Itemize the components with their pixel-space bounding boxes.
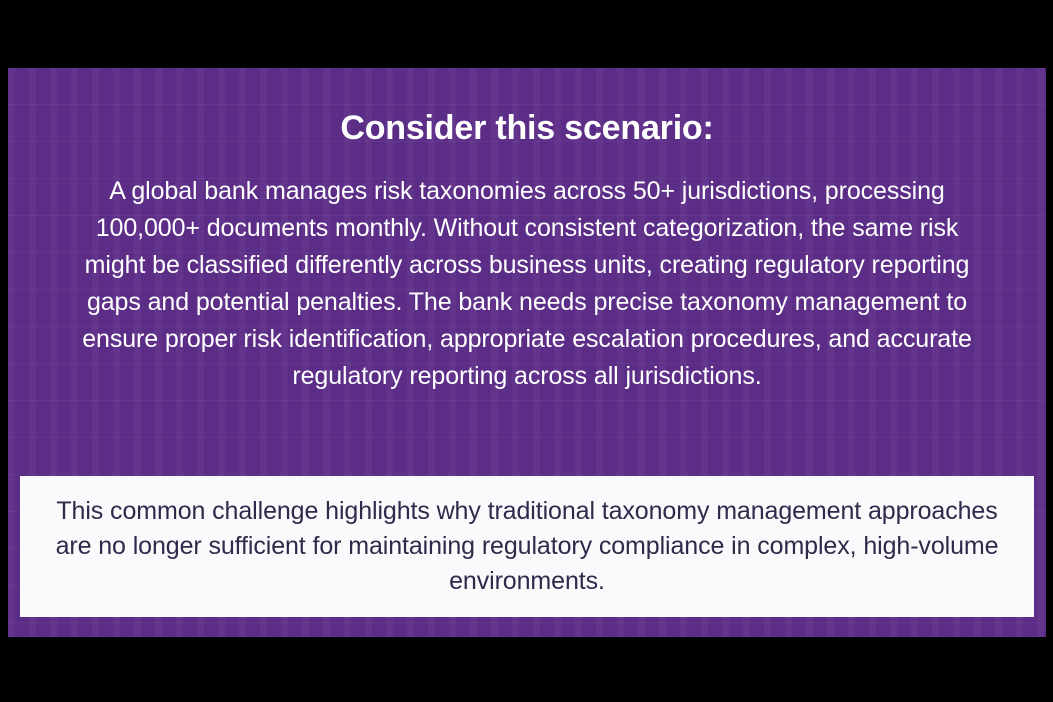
scenario-card: Consider this scenario: A global bank ma… [8,68,1046,637]
scenario-body-text: A global bank manages risk taxonomies ac… [8,149,1046,395]
takeaway-callout-box: This common challenge highlights why tra… [20,476,1034,617]
takeaway-text: This common challenge highlights why tra… [20,494,1034,599]
scenario-card-content: Consider this scenario: A global bank ma… [8,68,1046,395]
scenario-heading: Consider this scenario: [8,68,1046,149]
page-canvas: Consider this scenario: A global bank ma… [0,0,1053,702]
